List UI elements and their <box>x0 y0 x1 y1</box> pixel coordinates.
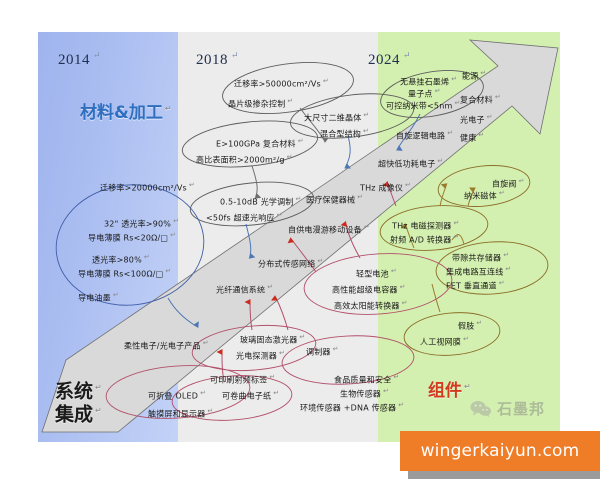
year-label-2018: 2018↵ <box>196 50 239 69</box>
ellipse-text-optical-l1: 0.5-10dB 光学调制↵ <box>220 194 302 208</box>
ellipse-text-mobility-50000-l2: 晶片级掺杂控制↵ <box>228 96 293 110</box>
year-label-2024: 2024↵ <box>368 50 411 69</box>
ellipse-text-thz-detector-l1: THz 电磁探测器↵ <box>392 218 460 232</box>
ellipse-text-laser-l1: 玻璃固态激光器↵ <box>240 332 305 346</box>
ellipse-text-composite-l1: E>100GPa 复合材料↵ <box>216 136 304 150</box>
ellipse-text-food-l1: 食品质量和安全↵ <box>334 372 399 386</box>
band-node-self-powered-mobile: 自供电漫游移动设备↵ <box>288 222 370 236</box>
watermark: 石墨邦 <box>470 398 545 419</box>
ellipse-text-interconnect-l2: 集成电路互连线↵ <box>446 264 511 278</box>
ellipse-text-laser-l3: 调制器↵ <box>306 344 339 358</box>
ellipse-text-2014-l1: 迁移率>20000cm²/Vs↵ <box>100 180 195 194</box>
ellipse-text-suspended-l3: 可控纳米带<5nm↵ <box>386 98 461 112</box>
ellipse-text-interconnect-l3: FET 垂直通道↵ <box>446 278 505 292</box>
ellipse-text-epaper-l3: 可卷曲电子纸↵ <box>222 388 279 402</box>
band-node-distributed-sensor-net: 分布式传感网络↵ <box>258 256 323 270</box>
ellipse-text-2014-l5: 导电薄膜 Rs<100Ω/□↵ <box>78 266 172 280</box>
ellipse-text-interconnect-l1: 带隙共存储器↵ <box>452 250 509 264</box>
year-label-2014: 2014↵ <box>58 50 101 69</box>
ellipse-text-prosthesis-l2: 人工视网膜↵ <box>420 334 469 348</box>
caption-component: 组件↵ <box>428 376 471 401</box>
band-node-fiber-comm: 光纤通信系统↵ <box>216 282 273 296</box>
band-node-spin-logic: 自旋逻辑电路↵ <box>396 128 453 142</box>
caption-system-integration: 系统↵ 集成↵ <box>55 378 102 425</box>
band-node-fast-low-power: 超快低功耗电子↵ <box>378 156 443 170</box>
ellipse-text-large-2d-l2: 混合型结构↵ <box>320 126 369 140</box>
ellipse-text-energy-l1: 轻型电池↵ <box>356 266 397 280</box>
ellipse-text-laser-l2: 光电探测器↵ <box>236 348 285 362</box>
watermark-text: 石墨邦 <box>497 398 545 419</box>
arrow-item-composite: 复合材料↵ <box>460 92 501 106</box>
ellipse-text-spin-valve-l2: 纳米磁体↵ <box>464 188 505 202</box>
arrow-item-optoelectronics: 光电子↵ <box>460 112 493 126</box>
ellipse-text-optical-l2: <50fs 超速光响应↵ <box>206 210 283 224</box>
ellipse-text-large-2d-l1: 大尺寸二维晶体↵ <box>304 110 369 124</box>
arrow-item-health: 健康↵ <box>460 130 484 144</box>
ellipse-text-food-l2: 生物传感器↵ <box>340 386 389 400</box>
ellipse-text-touchscreen-l4: 触摸屏和显示器↵ <box>148 406 213 420</box>
roadmap-figure: 2014↵ 2018↵ 2024↵ 材料&加工↵ 系统↵ 集成↵ 组件↵ 能源↵… <box>0 0 600 480</box>
ellipse-text-2014-l6: 导电油墨↵ <box>78 290 119 304</box>
url-banner: wingerkaiyun.com <box>400 431 600 471</box>
arrow-item-energy: 能源↵ <box>462 68 486 82</box>
wechat-icon <box>470 400 492 418</box>
band-node-thz-imager: THz 成像仪↵ <box>360 180 411 194</box>
ellipse-text-energy-l3: 高效太阳能转换器↵ <box>334 298 408 312</box>
ellipse-text-thz-detector-l2: 射频 A/D 转换器↵ <box>390 232 460 246</box>
ellipse-text-composite-l2: 高比表面积>2000m²/g↵ <box>196 152 293 166</box>
ellipse-text-mobility-50000-l1: 迁移率>50000cm²/Vs↵ <box>234 76 329 90</box>
ellipse-text-food-l3: 环境传感器 +DNA 传感器↵ <box>300 400 404 414</box>
ellipse-text-prosthesis-l1: 假肢↵ <box>458 318 482 332</box>
ellipse-text-2014-l3: 导电薄膜 Rs<20Ω/□↵ <box>88 230 176 244</box>
ellipse-text-energy-l2: 高性能超级电容器↵ <box>332 282 406 296</box>
caption-material-processing: 材料&加工↵ <box>80 98 172 123</box>
band-node-medical-device: 医疗保健器械↵ <box>306 192 363 206</box>
ellipse-text-2014-l4: 透光率>80%↵ <box>92 252 150 266</box>
band-node-flexible-products: 柔性电子/光电子产品↵ <box>124 338 209 352</box>
ellipse-text-oled-l2: 可折叠 OLED↵ <box>148 388 206 402</box>
url-banner-text: wingerkaiyun.com <box>421 441 580 461</box>
ellipse-text-2014-l2: 32" 透光率>90%↵ <box>104 216 179 230</box>
ellipse-text-rfid-l1: 可印刷射频标签↵ <box>210 372 275 386</box>
